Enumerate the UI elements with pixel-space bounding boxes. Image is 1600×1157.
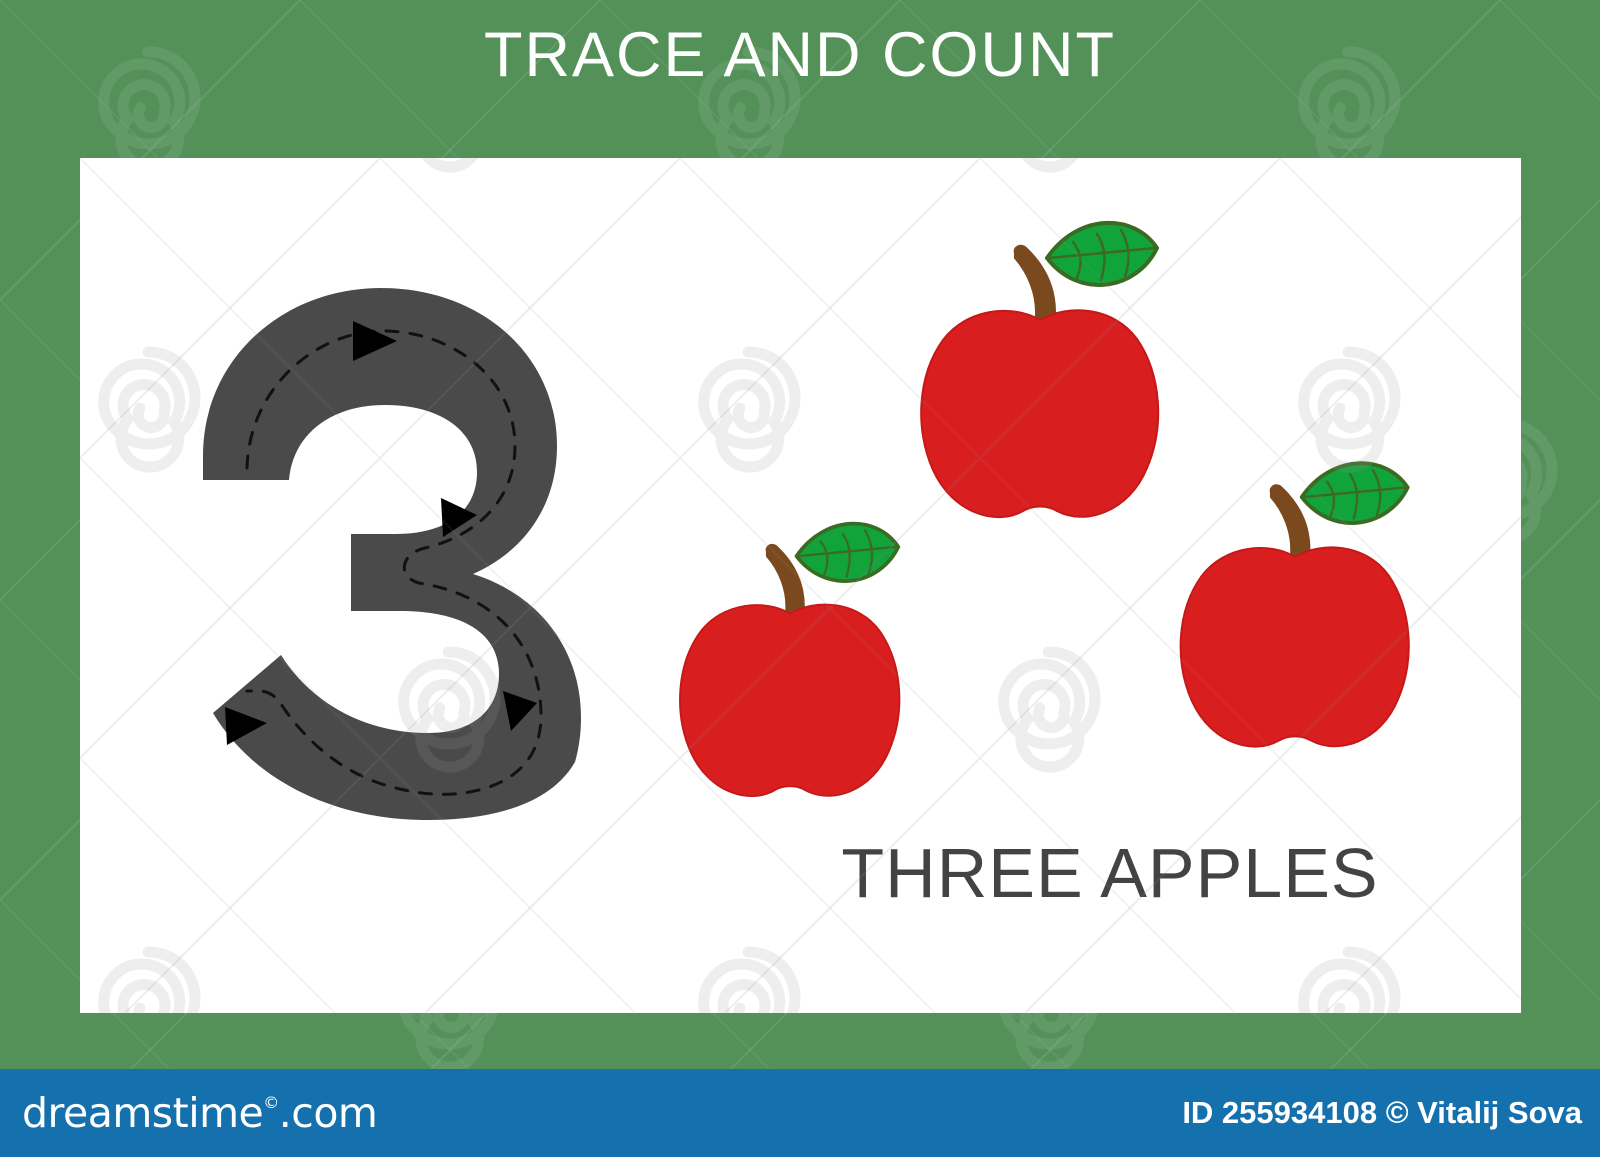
apple-body (680, 605, 899, 797)
worksheet-card: THREE APPLES (80, 158, 1521, 1013)
dreamstime-logo-word: dreamstime (22, 1089, 263, 1137)
apple-leaf (796, 524, 898, 582)
three-glyph-body (203, 288, 581, 820)
apple-icon (665, 508, 915, 808)
dreamstime-logo-tld: .com (279, 1089, 378, 1137)
apple-top (905, 208, 1175, 528)
image-credit: ID 255934108 © Vitalij Sova (1182, 1097, 1582, 1128)
apple-leaf (1302, 463, 1408, 523)
apple-left (665, 508, 915, 808)
worksheet-page: TRACE AND COUNT (0, 0, 1600, 1157)
trace-number-area[interactable] (185, 283, 625, 823)
apple-body (921, 310, 1158, 517)
registered-mark-icon: © (263, 1093, 279, 1112)
dreamstime-logo[interactable]: dreamstime©.com (22, 1093, 377, 1134)
apple-leaf (1047, 223, 1157, 285)
caption-label: THREE APPLES (810, 838, 1410, 908)
apple-icon (905, 208, 1175, 528)
page-title: TRACE AND COUNT (0, 24, 1600, 87)
apple-right (1165, 448, 1425, 758)
number-three-trace-glyph[interactable] (185, 283, 625, 823)
apple-body (1181, 547, 1409, 746)
stock-footer-bar: dreamstime©.com ID 255934108 © Vitalij S… (0, 1069, 1600, 1157)
apple-icon (1165, 448, 1425, 758)
